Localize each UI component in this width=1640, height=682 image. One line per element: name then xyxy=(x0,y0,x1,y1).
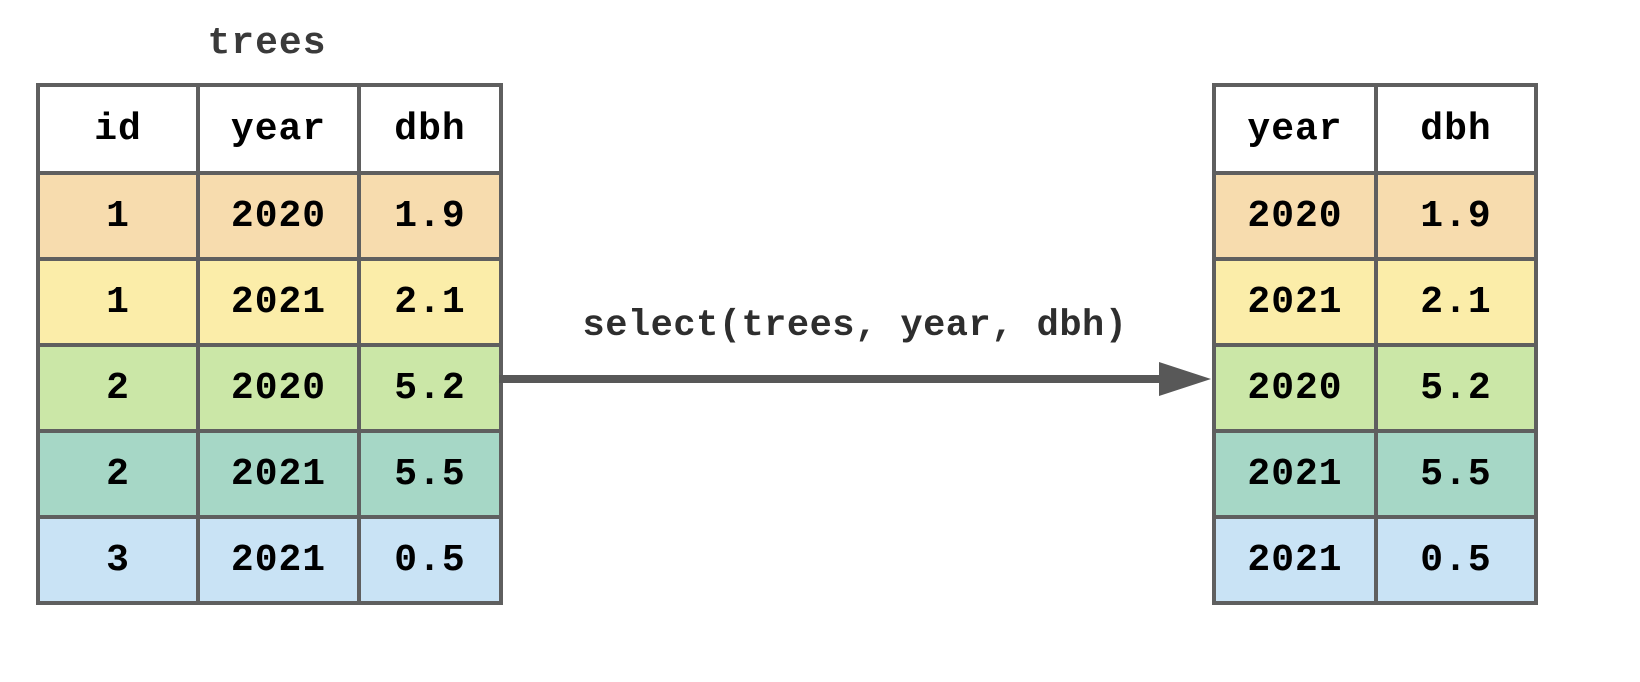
table-row: 2 2021 5.5 xyxy=(38,431,501,517)
cell-id: 1 xyxy=(38,173,198,259)
cell-dbh: 0.5 xyxy=(359,517,501,603)
cell-year: 2021 xyxy=(198,259,359,345)
cell-dbh: 1.9 xyxy=(1376,173,1536,259)
cell-year: 2021 xyxy=(1214,259,1376,345)
source-table: id year dbh 1 2020 1.9 1 2021 2.1 2 2020… xyxy=(36,83,503,605)
column-header-year: year xyxy=(198,85,359,173)
table-row: 3 2021 0.5 xyxy=(38,517,501,603)
cell-dbh: 0.5 xyxy=(1376,517,1536,603)
cell-id: 2 xyxy=(38,345,198,431)
column-header-id: id xyxy=(38,85,198,173)
table-row: 2021 0.5 xyxy=(1214,517,1536,603)
table-row: 1 2020 1.9 xyxy=(38,173,501,259)
cell-year: 2020 xyxy=(198,173,359,259)
table-header-row: year dbh xyxy=(1214,85,1536,173)
cell-id: 1 xyxy=(38,259,198,345)
table-row: 2021 5.5 xyxy=(1214,431,1536,517)
cell-year: 2020 xyxy=(198,345,359,431)
transform-arrow xyxy=(499,356,1211,402)
table-row: 2020 1.9 xyxy=(1214,173,1536,259)
cell-id: 3 xyxy=(38,517,198,603)
table-header-row: id year dbh xyxy=(38,85,501,173)
cell-id: 2 xyxy=(38,431,198,517)
column-header-dbh: dbh xyxy=(1376,85,1536,173)
cell-year: 2021 xyxy=(198,431,359,517)
cell-year: 2020 xyxy=(1214,345,1376,431)
result-table: year dbh 2020 1.9 2021 2.1 2020 5.2 2021… xyxy=(1212,83,1538,605)
source-table-caption: trees xyxy=(36,22,498,65)
cell-dbh: 1.9 xyxy=(359,173,501,259)
table-row: 2021 2.1 xyxy=(1214,259,1536,345)
column-header-dbh: dbh xyxy=(359,85,501,173)
cell-year: 2021 xyxy=(1214,431,1376,517)
arrow-right-icon xyxy=(499,356,1211,402)
diagram-canvas: trees id year dbh 1 2020 1.9 1 2021 2.1 … xyxy=(0,0,1640,682)
cell-dbh: 2.1 xyxy=(359,259,501,345)
cell-dbh: 5.2 xyxy=(1376,345,1536,431)
cell-dbh: 2.1 xyxy=(1376,259,1536,345)
column-header-year: year xyxy=(1214,85,1376,173)
table-row: 1 2021 2.1 xyxy=(38,259,501,345)
cell-year: 2021 xyxy=(198,517,359,603)
cell-dbh: 5.2 xyxy=(359,345,501,431)
operation-label: select(trees, year, dbh) xyxy=(499,305,1211,347)
table-row: 2020 5.2 xyxy=(1214,345,1536,431)
cell-year: 2021 xyxy=(1214,517,1376,603)
cell-dbh: 5.5 xyxy=(359,431,501,517)
table-row: 2 2020 5.2 xyxy=(38,345,501,431)
cell-dbh: 5.5 xyxy=(1376,431,1536,517)
cell-year: 2020 xyxy=(1214,173,1376,259)
